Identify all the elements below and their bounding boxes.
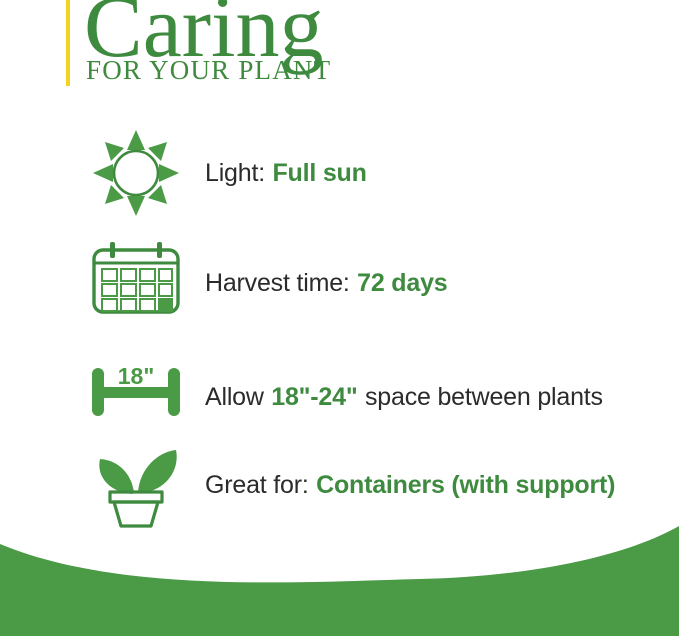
care-row-light: Light: Full sun xyxy=(0,128,679,218)
care-row-spacing-text: Allow 18"-24" space between plants xyxy=(205,352,603,442)
spacing-label-after: space between plants xyxy=(365,383,603,412)
sun-icon xyxy=(88,128,184,218)
header: Caring FOR YOUR PLANT xyxy=(0,0,679,110)
infographic-canvas: Caring FOR YOUR PLANT Light: Full sun xyxy=(0,0,679,636)
bottom-curve-decoration xyxy=(0,516,679,636)
light-label: Light: xyxy=(205,159,265,188)
harvest-label: Harvest time: xyxy=(205,269,350,298)
harvest-value: 72 days xyxy=(357,269,447,298)
greatfor-label: Great for: xyxy=(205,471,309,500)
greatfor-value: Containers (with support) xyxy=(316,471,615,500)
page-subtitle: FOR YOUR PLANT xyxy=(86,57,331,84)
calendar-icon xyxy=(88,238,184,328)
accent-bar xyxy=(66,0,70,86)
care-row-light-text: Light: Full sun xyxy=(205,128,367,218)
spacing-value: 18"-24" xyxy=(271,383,357,412)
light-value: Full sun xyxy=(272,159,366,188)
care-row-spacing: 18" Allow 18"-24" space between plants xyxy=(0,352,679,442)
care-row-harvest: Harvest time: 72 days xyxy=(0,238,679,328)
spacing-icon: 18" xyxy=(88,358,184,448)
spacing-label: Allow xyxy=(205,383,264,412)
spacing-icon-label: 18" xyxy=(118,363,155,389)
care-row-harvest-text: Harvest time: 72 days xyxy=(205,238,448,328)
